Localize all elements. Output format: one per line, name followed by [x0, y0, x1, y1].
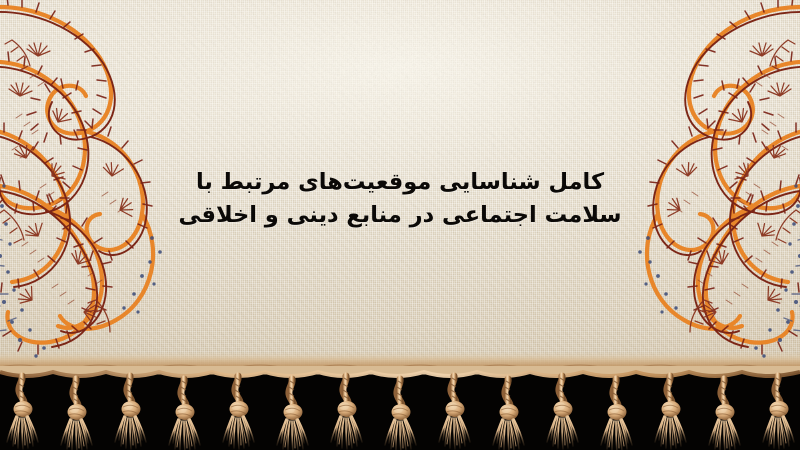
- slide-title: کامل شناسایی موقعیت‌های مرتبط با سلامت ا…: [0, 166, 800, 232]
- title-line-1: کامل شناسایی موقعیت‌های مرتبط با: [150, 166, 650, 199]
- slide-canvas: کامل شناسایی موقعیت‌های مرتبط با سلامت ا…: [0, 0, 800, 450]
- title-line-2: سلامت اجتماعی در منابع دینی و اخلاقی: [150, 199, 650, 232]
- tassel-fringe: [0, 366, 800, 450]
- tassel-row: [7, 376, 794, 450]
- tassel-fringe-svg: [0, 366, 800, 450]
